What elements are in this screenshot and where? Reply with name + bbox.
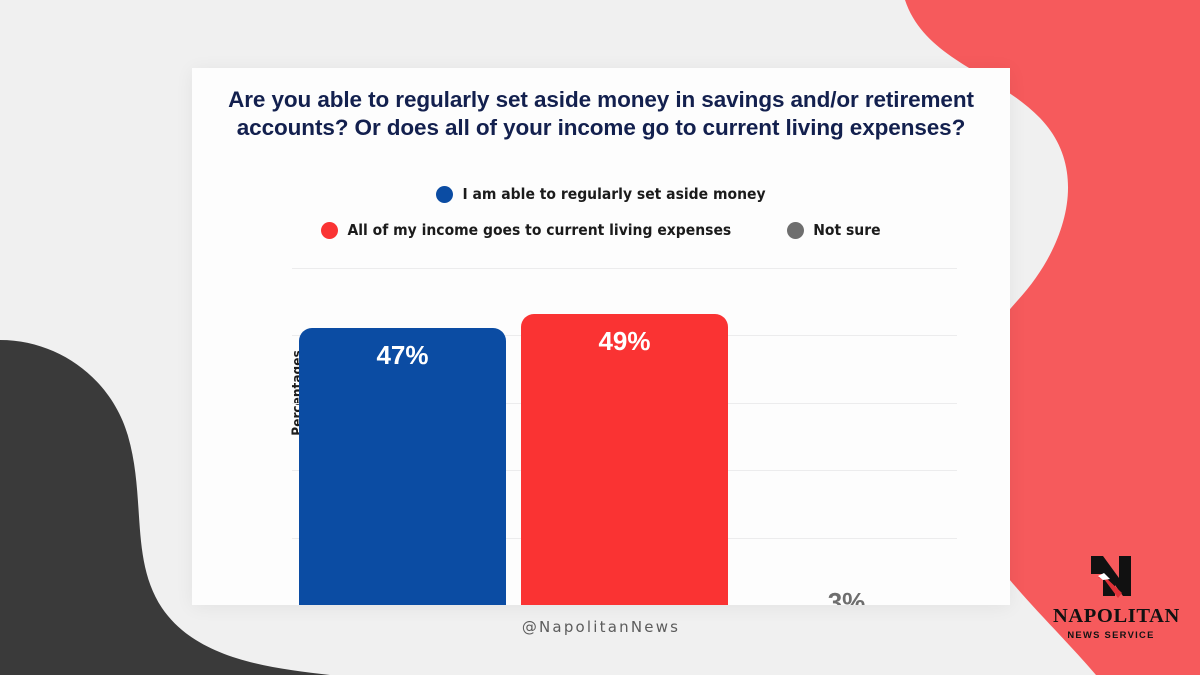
legend-row-2: All of my income goes to current living …	[192, 221, 1010, 239]
chart-legend: I am able to regularly set aside money A…	[192, 185, 1010, 239]
logo-tagline: NEWS SERVICE	[1053, 629, 1169, 640]
legend-item-not-sure[interactable]: Not sure	[787, 221, 880, 239]
legend-dot-gray-icon	[787, 222, 804, 239]
napolitan-n-mark-icon	[1085, 552, 1137, 602]
chart-card: Are you able to regularly set aside mone…	[192, 68, 1010, 605]
legend-label: I am able to regularly set aside money	[462, 185, 765, 203]
logo-wordmark: NAPOLITAN	[1053, 605, 1169, 628]
social-handle: @NapolitanNews	[192, 618, 1010, 636]
bar-value-label: 49%	[521, 326, 728, 357]
legend-row-1: I am able to regularly set aside money	[192, 185, 1010, 203]
legend-dot-blue-icon	[436, 186, 453, 203]
bar[interactable]: 49%	[521, 314, 728, 605]
legend-item-set-aside-money[interactable]: I am able to regularly set aside money	[436, 185, 765, 203]
legend-label: All of my income goes to current living …	[347, 221, 731, 239]
plot-area: Percentages 47%49%3%	[292, 267, 957, 605]
bar[interactable]: 47%	[299, 328, 506, 605]
chart-title: Are you able to regularly set aside mone…	[226, 86, 976, 141]
brand-logo: NAPOLITAN NEWS SERVICE	[1053, 552, 1169, 640]
legend-item-living-expenses[interactable]: All of my income goes to current living …	[321, 221, 731, 239]
legend-dot-red-icon	[321, 222, 338, 239]
bar-value-label: 3%	[743, 587, 950, 605]
gridline	[292, 268, 957, 269]
legend-label: Not sure	[813, 221, 880, 239]
bar-value-label: 47%	[299, 340, 506, 371]
